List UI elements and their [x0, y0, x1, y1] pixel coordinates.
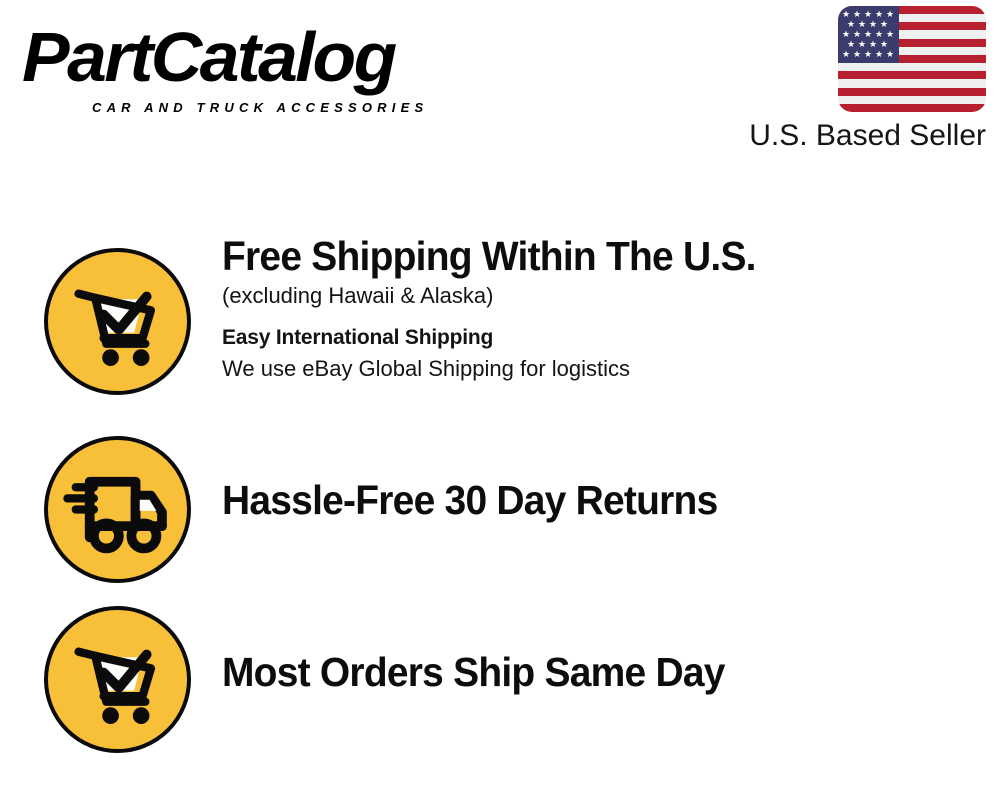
page-header: PartCatalog CAR AND TRUCK ACCESSORIES ★ …: [0, 0, 1000, 170]
us-based-seller-badge: ★ ★ ★ ★ ★ ★ ★ ★ ★ ★ ★ ★ ★ ★ ★ ★ ★ ★ ★ ★: [716, 6, 986, 153]
feature-sub-text: We use eBay Global Shipping for logistic…: [222, 353, 982, 385]
feature-row: Hassle-Free 30 Day Returns: [0, 414, 1000, 586]
flag-stripe: [838, 96, 986, 104]
feature-title: Free Shipping Within The U.S.: [222, 232, 944, 280]
flag-stripe: [838, 79, 986, 87]
feature-row: Free Shipping Within The U.S. (excluding…: [0, 226, 1000, 414]
delivery-truck-icon: [44, 436, 191, 583]
feature-text-block: Free Shipping Within The U.S. (excluding…: [222, 232, 982, 385]
brand-wordmark: PartCatalog: [22, 20, 501, 94]
feature-subtitle: (excluding Hawaii & Alaska): [222, 280, 982, 312]
flag-stripe: [838, 63, 986, 71]
shopping-cart-check-icon: [44, 248, 191, 395]
feature-row: Most Orders Ship Same Day: [0, 586, 1000, 761]
us-based-seller-label: U.S. Based Seller: [716, 119, 986, 153]
feature-text-block: Most Orders Ship Same Day: [222, 648, 982, 696]
us-flag-icon: ★ ★ ★ ★ ★ ★ ★ ★ ★ ★ ★ ★ ★ ★ ★ ★ ★ ★ ★ ★: [838, 6, 986, 112]
brand-tagline: CAR AND TRUCK ACCESSORIES: [92, 100, 428, 115]
feature-sub-heading: Easy International Shipping: [222, 322, 982, 353]
shopping-cart-check-icon: [44, 606, 191, 753]
flag-stripe: [838, 104, 986, 112]
flag-stripe: [838, 88, 986, 96]
feature-title: Hassle-Free 30 Day Returns: [222, 476, 944, 524]
partcatalog-logo[interactable]: PartCatalog CAR AND TRUCK ACCESSORIES: [22, 20, 492, 120]
flag-canton: ★ ★ ★ ★ ★ ★ ★ ★ ★ ★ ★ ★ ★ ★ ★ ★ ★ ★ ★ ★: [838, 6, 899, 63]
flag-stripe: [838, 71, 986, 79]
feature-title: Most Orders Ship Same Day: [222, 648, 944, 696]
feature-text-block: Hassle-Free 30 Day Returns: [222, 476, 982, 524]
